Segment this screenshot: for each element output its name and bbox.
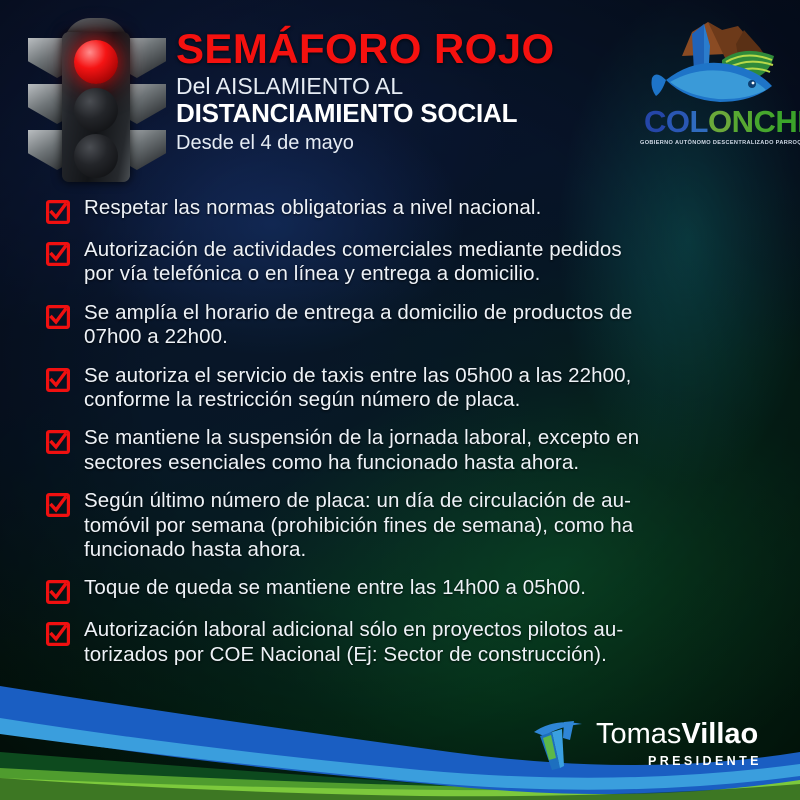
poster-subtitle-two: DISTANCIAMIENTO SOCIAL (176, 99, 606, 128)
villao-name: TomasVillao (596, 720, 758, 749)
list-item: Toque de queda se mantiene entre las 14h… (46, 576, 762, 604)
infographic-poster: SEMÁFORO ROJO Del AISLAMIENTO AL DISTANC… (0, 0, 800, 800)
measure-text: Según último número de placa: un día de … (84, 489, 633, 562)
villao-role: PRESIDENTE (648, 754, 762, 768)
list-item: Según último número de placa: un día de … (46, 489, 762, 562)
colonche-tagline: GOBIERNO AUTÓNOMO DESCENTRALIZADO PARROQ… (640, 140, 792, 146)
title-block: SEMÁFORO ROJO Del AISLAMIENTO AL DISTANC… (176, 28, 606, 155)
checkbox-checked-icon (46, 493, 70, 517)
villao-name-last: Villao (681, 718, 758, 750)
measure-text: Respetar las normas obligatorias a nivel… (84, 196, 541, 220)
fish-mountain-emblem-icon (648, 14, 784, 106)
traffic-light-lamp-red (74, 40, 118, 84)
traffic-light-lamp-amber (74, 88, 118, 132)
checkbox-checked-icon (46, 368, 70, 392)
list-item: Autorización de actividades comerciales … (46, 238, 762, 287)
poster-title: SEMÁFORO ROJO (176, 28, 606, 70)
poster-subtitle-one: Del AISLAMIENTO AL (176, 74, 606, 99)
traffic-light-lamp-green (74, 134, 118, 178)
list-item: Se mantiene la suspensión de la jornada … (46, 426, 762, 475)
list-item: Se amplía el horario de entrega a domici… (46, 301, 762, 350)
colonche-wordmark: COLONCHE (644, 106, 790, 137)
checkbox-checked-icon (46, 430, 70, 454)
checkbox-checked-icon (46, 200, 70, 224)
tomas-villao-logo: TomasVillao PRESIDENTE (530, 714, 774, 776)
measure-text: Se amplía el horario de entrega a domici… (84, 301, 632, 350)
measure-text: Toque de queda se mantiene entre las 14h… (84, 576, 586, 600)
list-item: Se autoriza el servicio de taxis entre l… (46, 364, 762, 413)
colonche-logo: COLONCHE GOBIERNO AUTÓNOMO DESCENTRALIZA… (640, 14, 792, 164)
list-item: Respetar las normas obligatorias a nivel… (46, 196, 762, 224)
checkbox-checked-icon (46, 305, 70, 329)
measure-text: Autorización de actividades comerciales … (84, 238, 622, 287)
measure-text: Se autoriza el servicio de taxis entre l… (84, 364, 631, 413)
checkbox-checked-icon (46, 580, 70, 604)
traffic-light-icon (22, 12, 170, 182)
measure-text: Se mantiene la suspensión de la jornada … (84, 426, 639, 475)
header: SEMÁFORO ROJO Del AISLAMIENTO AL DISTANC… (0, 0, 800, 180)
measures-list: Respetar las normas obligatorias a nivel… (46, 196, 762, 667)
villao-name-first: Tomas (596, 718, 681, 750)
tv-monogram-icon (530, 716, 588, 772)
checkbox-checked-icon (46, 242, 70, 266)
checkbox-checked-icon (46, 622, 70, 646)
poster-date-line: Desde el 4 de mayo (176, 131, 606, 155)
